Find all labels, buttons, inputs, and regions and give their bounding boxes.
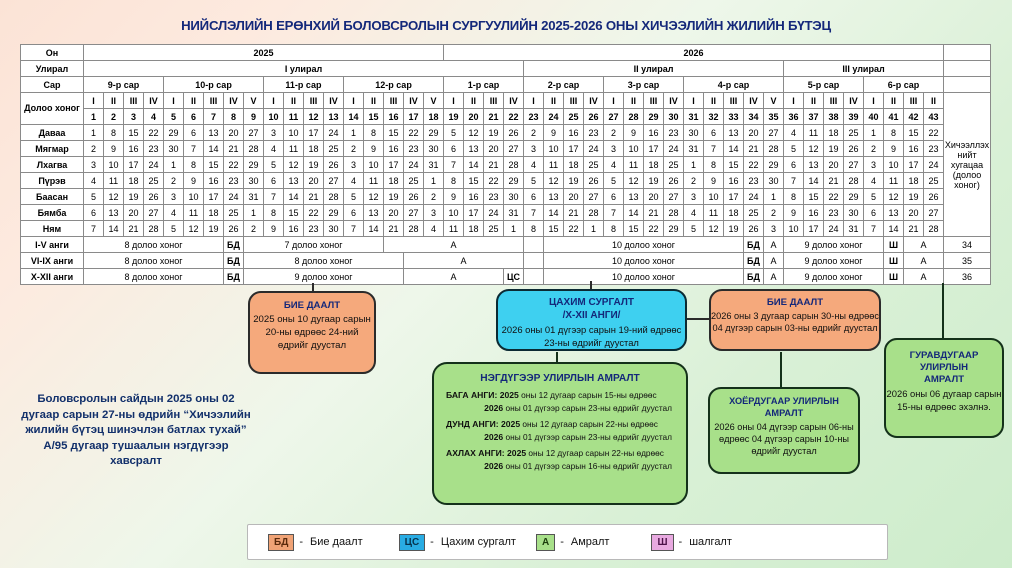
date-cell: 13	[724, 125, 744, 141]
weekday-row: Баасан5121926310172431714212851219262916…	[21, 189, 991, 205]
date-cell: 14	[624, 205, 644, 221]
grade-total-cell: 34	[944, 237, 991, 253]
date-cell: 21	[384, 221, 404, 237]
row-label-term: Улирал	[21, 61, 84, 77]
week-number-cell: 19	[444, 109, 464, 125]
grade-segment-cell	[524, 269, 544, 285]
date-cell: 6	[444, 141, 464, 157]
week-number-cell: 28	[624, 109, 644, 125]
date-cell: 10	[544, 141, 564, 157]
week-roman-cell: IV	[144, 93, 164, 109]
date-cell: 6	[264, 173, 284, 189]
date-cell: 15	[724, 157, 744, 173]
week-number-cell: 17	[404, 109, 424, 125]
date-cell: 21	[124, 221, 144, 237]
week-roman-cell: IV	[404, 93, 424, 109]
date-cell: 21	[744, 141, 764, 157]
date-cell: 28	[144, 221, 164, 237]
date-cell: 29	[324, 205, 344, 221]
date-cell: 19	[304, 157, 324, 173]
date-cell: 10	[104, 157, 124, 173]
date-cell: 12	[104, 189, 124, 205]
callout-line-rest: оны 01 дүгээр сарын 23-ны өдрийг дуустал	[503, 403, 672, 413]
date-cell: 29	[424, 125, 444, 141]
legend-dash: -	[430, 536, 434, 548]
week-roman-cell: II	[704, 93, 724, 109]
date-cell: 22	[564, 221, 584, 237]
week-roman-cell: II	[804, 93, 824, 109]
date-cell: 6	[604, 189, 624, 205]
month-header-cell: 5-р сар	[784, 77, 864, 93]
grade-segment-cell: 8 долоо хоног	[244, 253, 404, 269]
date-cell: 8	[104, 125, 124, 141]
callout-amralt-1[interactable]: НЭГДҮГЭЭР УЛИРЛЫН АМРАЛТ БАГА АНГИ: 2025…	[432, 362, 688, 505]
date-cell: 4	[424, 221, 444, 237]
date-cell: 12	[704, 221, 724, 237]
date-cell: 7	[184, 141, 204, 157]
grade-segment-cell: А	[384, 237, 524, 253]
date-cell: 1	[84, 125, 104, 141]
callout-line-rest: оны 01 дүгээр сарын 16-ны өдрийг дуустал	[503, 461, 672, 471]
week-number-cell: 3	[124, 109, 144, 125]
date-cell: 9	[444, 189, 464, 205]
date-cell: 9	[884, 141, 904, 157]
grade-segment-cell: ЦС	[504, 269, 524, 285]
date-cell: 23	[304, 221, 324, 237]
date-cell: 19	[904, 189, 924, 205]
date-cell: 21	[824, 173, 844, 189]
year-header-cell: 2026	[444, 45, 944, 61]
week-number-cell: 6	[184, 109, 204, 125]
callout-amralt-2[interactable]: ХОЁРДУГААР УЛИРЛЫН АМРАЛТ 2026 оны 04 дү…	[708, 387, 860, 474]
grade-segment-cell	[524, 237, 544, 253]
week-roman-cell: III	[644, 93, 664, 109]
week-number-cell: 16	[384, 109, 404, 125]
week-number-cell: 20	[464, 109, 484, 125]
date-cell: 19	[824, 141, 844, 157]
row-year: Он20252026	[21, 45, 991, 61]
week-roman-cell: II	[464, 93, 484, 109]
date-cell: 29	[244, 157, 264, 173]
date-cell: 16	[124, 141, 144, 157]
date-cell: 27	[764, 125, 784, 141]
callout-tsakhim-surgalt[interactable]: ЦАХИМ СУРГАЛТ /X-XII АНГИ/ 2026 оны 01 д…	[496, 289, 687, 351]
callout-heading: БИЕ ДААЛТ	[250, 300, 374, 311]
date-cell: 28	[404, 221, 424, 237]
date-cell: 3	[764, 221, 784, 237]
grade-segment-cell: БД	[224, 269, 244, 285]
date-cell: 29	[764, 157, 784, 173]
row-term: УлиралI улиралII улиралIII улирал	[21, 61, 991, 77]
callout-heading-line1: ХОЁРДУГААР УЛИРЛЫН	[710, 396, 858, 408]
date-cell: 23	[144, 141, 164, 157]
date-cell: 13	[804, 157, 824, 173]
week-number-cell: 32	[704, 109, 724, 125]
term-header-cell: III улирал	[784, 61, 944, 77]
grade-row: X-XII анги8 долоо хоногБД9 долоо хоногАЦ…	[21, 269, 991, 285]
grade-segment-cell: БД	[744, 253, 764, 269]
date-cell: 28	[244, 141, 264, 157]
month-header-cell: 2-р сар	[524, 77, 604, 93]
grade-segment-cell: 10 долоо хоног	[544, 253, 744, 269]
date-cell: 28	[764, 141, 784, 157]
date-cell: 6	[864, 205, 884, 221]
callout-body: 2026 оны 3 дугаар сарын 30-ны өдрөөс 04 …	[711, 310, 879, 334]
date-cell: 3	[164, 189, 184, 205]
date-cell: 24	[664, 141, 684, 157]
date-cell: 8	[184, 157, 204, 173]
date-cell: 17	[724, 189, 744, 205]
grade-label-cell: X-XII анги	[21, 269, 84, 285]
date-cell: 26	[584, 173, 604, 189]
date-cell: 11	[104, 173, 124, 189]
month-header-cell: 12-р сар	[344, 77, 444, 93]
date-cell: 16	[644, 125, 664, 141]
grade-segment-cell: БД	[744, 269, 764, 285]
date-cell: 7	[864, 221, 884, 237]
date-cell: 18	[464, 221, 484, 237]
date-cell: 13	[544, 189, 564, 205]
date-cell: 15	[624, 221, 644, 237]
callout-line-rest: оны 01 дүгээр сарын 23-ны өдрийг дуустал	[503, 432, 672, 442]
month-header-cell: 4-р сар	[684, 77, 784, 93]
date-cell: 14	[204, 141, 224, 157]
legend-dash: -	[679, 536, 683, 548]
grade-total-cell: 36	[944, 269, 991, 285]
date-cell: 5	[344, 189, 364, 205]
date-cell: 6	[784, 157, 804, 173]
row-month: Сар9-р сар10-р сар11-р сар12-р сар1-р са…	[21, 77, 991, 93]
date-cell: 2	[244, 221, 264, 237]
date-cell: 19	[384, 189, 404, 205]
date-cell: 2	[864, 141, 884, 157]
week-number-cell: 18	[424, 109, 444, 125]
date-cell: 26	[504, 125, 524, 141]
date-cell: 21	[224, 141, 244, 157]
date-cell: 24	[824, 221, 844, 237]
date-cell: 7	[524, 205, 544, 221]
week-roman-cell: IV	[664, 93, 684, 109]
date-cell: 14	[464, 157, 484, 173]
week-number-cell: 23	[524, 109, 544, 125]
date-cell: 22	[224, 157, 244, 173]
date-cell: 3	[84, 157, 104, 173]
date-cell: 16	[904, 141, 924, 157]
grade-row: VI-IX анги8 долоо хоногБД8 долоо хоногА1…	[21, 253, 991, 269]
date-cell: 16	[384, 141, 404, 157]
date-cell: 18	[644, 157, 664, 173]
grade-label-cell: VI-IX анги	[21, 253, 84, 269]
week-number-cell: 13	[324, 109, 344, 125]
date-cell: 15	[904, 125, 924, 141]
week-number-cell: 35	[764, 109, 784, 125]
callout-amralt-1-line: АХЛАХ АНГИ: 2025 оны 12 дугаар сарын 22-…	[434, 448, 686, 458]
date-cell: 7	[784, 173, 804, 189]
date-cell: 15	[544, 221, 564, 237]
date-cell: 30	[164, 141, 184, 157]
date-cell: 4	[84, 173, 104, 189]
month-header-cell: 9-р сар	[84, 77, 164, 93]
date-cell: 8	[364, 125, 384, 141]
date-cell: 30	[504, 189, 524, 205]
grade-segment-cell: 7 долоо хоног	[244, 237, 384, 253]
date-cell: 13	[104, 205, 124, 221]
callout-bie-daalt-2[interactable]: БИЕ ДААЛТ 2026 оны 3 дугаар сарын 30-ны …	[709, 289, 881, 351]
callout-amralt-1-line: 2026 оны 01 дүгээр сарын 16-ны өдрийг ду…	[434, 461, 686, 471]
date-cell: 27	[144, 205, 164, 221]
week-number-cell: 43	[924, 109, 944, 125]
date-cell: 2	[164, 173, 184, 189]
grade-label-cell: I-V анги	[21, 237, 84, 253]
week-roman-cell: I	[164, 93, 184, 109]
date-cell: 25	[744, 205, 764, 221]
callout-line-bold: 2026	[484, 461, 503, 471]
date-cell: 26	[844, 141, 864, 157]
date-cell: 16	[804, 205, 824, 221]
date-cell: 21	[904, 221, 924, 237]
legend-chip-3: А	[536, 534, 555, 551]
date-cell: 11	[804, 125, 824, 141]
week-roman-cell: I	[444, 93, 464, 109]
date-cell: 2	[604, 125, 624, 141]
callout-heading: БИЕ ДААЛТ	[711, 297, 879, 308]
date-cell: 31	[424, 157, 444, 173]
date-cell: 22	[924, 125, 944, 141]
grade-segment-cell: 10 долоо хоног	[544, 237, 744, 253]
date-cell: 15	[284, 205, 304, 221]
grade-segment-cell: Ш	[884, 269, 904, 285]
date-cell: 9	[364, 141, 384, 157]
week-number-cell: 36	[784, 109, 804, 125]
date-cell: 22	[144, 125, 164, 141]
date-cell: 4	[524, 157, 544, 173]
weekday-name-cell: Даваа	[21, 125, 84, 141]
grade-segment-cell	[524, 253, 544, 269]
date-cell: 12	[364, 189, 384, 205]
grade-segment-cell: А	[764, 253, 784, 269]
date-cell: 23	[484, 189, 504, 205]
week-number-cell: 14	[344, 109, 364, 125]
grade-segment-cell: 10 долоо хоног	[544, 269, 744, 285]
grade-segment-cell: 8 долоо хоног	[84, 253, 224, 269]
date-cell: 14	[544, 205, 564, 221]
date-cell: 5	[864, 189, 884, 205]
date-cell: 1	[504, 221, 524, 237]
date-cell: 12	[884, 189, 904, 205]
date-cell: 20	[304, 173, 324, 189]
date-cell: 11	[284, 141, 304, 157]
week-number-cell: 40	[864, 109, 884, 125]
date-cell: 2	[84, 141, 104, 157]
week-roman-cell: I	[344, 93, 364, 109]
grade-total-cell: 35	[944, 253, 991, 269]
date-cell: 25	[924, 173, 944, 189]
date-cell: 10	[364, 157, 384, 173]
week-number-cell: 38	[824, 109, 844, 125]
week-number-cell: 30	[664, 109, 684, 125]
week-roman-cell: V	[764, 93, 784, 109]
date-cell: 4	[864, 173, 884, 189]
date-cell: 24	[144, 157, 164, 173]
callout-line-bold: ДУНД АНГИ: 2025	[446, 419, 520, 429]
date-cell: 15	[804, 189, 824, 205]
legend-chip-1: БД	[268, 534, 294, 551]
week-roman-cell: I	[524, 93, 544, 109]
date-cell: 11	[884, 173, 904, 189]
date-cell: 23	[664, 125, 684, 141]
week-number-cell: 25	[564, 109, 584, 125]
date-cell: 7	[444, 157, 464, 173]
date-cell: 11	[364, 173, 384, 189]
ministerial-order-note: Боловсролын сайдын 2025 оны 02 дугаар са…	[18, 392, 254, 470]
total-column-header: Хичээллэх нийт хугацаа (долоо хоног)	[944, 93, 991, 237]
callout-heading-line1: ГУРАВДУГААР	[886, 350, 1002, 362]
date-cell: 19	[124, 189, 144, 205]
date-cell: 8	[884, 125, 904, 141]
date-cell: 17	[204, 189, 224, 205]
date-cell: 2	[764, 205, 784, 221]
week-number-cell: 2	[104, 109, 124, 125]
date-cell: 24	[584, 141, 604, 157]
week-roman-cell: II	[104, 93, 124, 109]
date-cell: 28	[664, 205, 684, 221]
callout-line-rest: оны 12 дугаар сарын 22-ны өдрөөс	[520, 419, 658, 429]
date-cell: 29	[164, 125, 184, 141]
date-cell: 5	[84, 189, 104, 205]
week-number-cell: 31	[684, 109, 704, 125]
row-week-number: 1234567891011121314151617181920212223242…	[21, 109, 991, 125]
date-cell: 5	[784, 141, 804, 157]
date-cell: 22	[304, 205, 324, 221]
date-cell: 27	[324, 173, 344, 189]
date-cell: 6	[704, 125, 724, 141]
date-cell: 12	[624, 173, 644, 189]
legend-label-1: Бие даалт	[310, 536, 363, 548]
callout-body: 2026 оны 06 дугаар сарын 15-ны өдрөөс эх…	[886, 388, 1002, 413]
date-cell: 18	[824, 125, 844, 141]
callout-amralt-3[interactable]: ГУРАВДУГААР УЛИРЛЫН АМРАЛТ 2026 оны 06 д…	[884, 338, 1004, 438]
date-cell: 5	[444, 125, 464, 141]
month-header-cell: 10-р сар	[164, 77, 264, 93]
term-header-cell: II улирал	[524, 61, 784, 77]
row-label-month: Сар	[21, 77, 84, 93]
weekday-row: Даваа18152229613202731017241815222951219…	[21, 125, 991, 141]
legend-label-3: Амралт	[571, 536, 610, 548]
grade-segment-cell: 9 долоо хоног	[784, 237, 884, 253]
date-cell: 2	[344, 141, 364, 157]
date-cell: 1	[864, 125, 884, 141]
date-cell: 1	[164, 157, 184, 173]
date-cell: 27	[924, 205, 944, 221]
week-number-cell: 29	[644, 109, 664, 125]
date-cell: 19	[204, 221, 224, 237]
week-number-cell: 7	[204, 109, 224, 125]
term-header-cell: I улирал	[84, 61, 524, 77]
legend-label-2: Цахим сургалт	[441, 536, 516, 548]
week-number-cell: 12	[304, 109, 324, 125]
date-cell: 6	[184, 125, 204, 141]
date-cell: 16	[204, 173, 224, 189]
date-cell: 28	[584, 205, 604, 221]
date-cell: 11	[624, 157, 644, 173]
connector-line-am2	[780, 352, 782, 388]
grade-segment-cell: А	[904, 237, 944, 253]
date-cell: 11	[444, 221, 464, 237]
date-cell: 9	[704, 173, 724, 189]
week-roman-cell: III	[304, 93, 324, 109]
total-header-spacer	[944, 61, 991, 77]
legend-chip-2: ЦС	[399, 534, 426, 551]
year-header-cell: 2025	[84, 45, 444, 61]
week-number-cell: 8	[224, 109, 244, 125]
weekday-name-cell: Мягмар	[21, 141, 84, 157]
total-header-spacer	[944, 77, 991, 93]
date-cell: 12	[184, 221, 204, 237]
date-cell: 9	[104, 141, 124, 157]
week-roman-cell: II	[924, 93, 944, 109]
date-cell: 24	[404, 157, 424, 173]
grade-segment-cell: 9 долоо хоног	[784, 253, 884, 269]
date-cell: 16	[464, 189, 484, 205]
date-cell: 26	[664, 173, 684, 189]
callout-bie-daalt-1[interactable]: БИЕ ДААЛТ 2025 оны 10 дугаар сарын 20-ны…	[248, 291, 376, 374]
weekday-row: Лхагва3101724181522295121926310172431714…	[21, 157, 991, 173]
week-number-cell: 1	[84, 109, 104, 125]
date-cell: 23	[824, 205, 844, 221]
date-cell: 3	[604, 141, 624, 157]
date-cell: 4	[684, 205, 704, 221]
date-cell: 26	[744, 221, 764, 237]
week-number-cell: 34	[744, 109, 764, 125]
date-cell: 27	[844, 157, 864, 173]
callout-body: 2026 оны 01 дүгээр сарын 19-ний өдрөөс 2…	[498, 324, 685, 349]
date-cell: 15	[204, 157, 224, 173]
date-cell: 18	[124, 173, 144, 189]
weekday-name-cell: Пүрэв	[21, 173, 84, 189]
callout-line-bold: АХЛАХ АНГИ: 2025	[446, 448, 526, 458]
date-cell: 27	[504, 141, 524, 157]
date-cell: 24	[924, 157, 944, 173]
callout-amralt-1-line: 2026 оны 01 дүгээр сарын 23-ны өдрийг ду…	[434, 403, 686, 413]
date-cell: 25	[224, 205, 244, 221]
weekday-row: Пүрэв41118252916233061320274111825181522…	[21, 173, 991, 189]
week-number-cell: 41	[884, 109, 904, 125]
date-cell: 5	[684, 221, 704, 237]
date-cell: 21	[644, 205, 664, 221]
callout-line-bold: 2026	[484, 403, 503, 413]
callout-heading-line2: АМРАЛТ	[710, 408, 858, 420]
weekday-name-cell: Баасан	[21, 189, 84, 205]
date-cell: 9	[784, 205, 804, 221]
date-cell: 26	[224, 221, 244, 237]
date-cell: 22	[404, 125, 424, 141]
grade-segment-cell: БД	[744, 237, 764, 253]
week-number-cell: 10	[264, 109, 284, 125]
date-cell: 27	[664, 189, 684, 205]
row-label-week: Долоо хоног	[21, 93, 84, 125]
date-cell: 29	[504, 173, 524, 189]
date-cell: 4	[344, 173, 364, 189]
week-number-cell: 5	[164, 109, 184, 125]
month-header-cell: 6-р сар	[864, 77, 944, 93]
week-roman-cell: II	[284, 93, 304, 109]
legend-bar: БД-Бие даалтЦС-Цахим сургалтА-АмралтШ-ша…	[247, 524, 888, 560]
week-roman-cell: II	[624, 93, 644, 109]
date-cell: 4	[784, 125, 804, 141]
date-cell: 22	[644, 221, 664, 237]
week-roman-cell: IV	[844, 93, 864, 109]
date-cell: 31	[844, 221, 864, 237]
